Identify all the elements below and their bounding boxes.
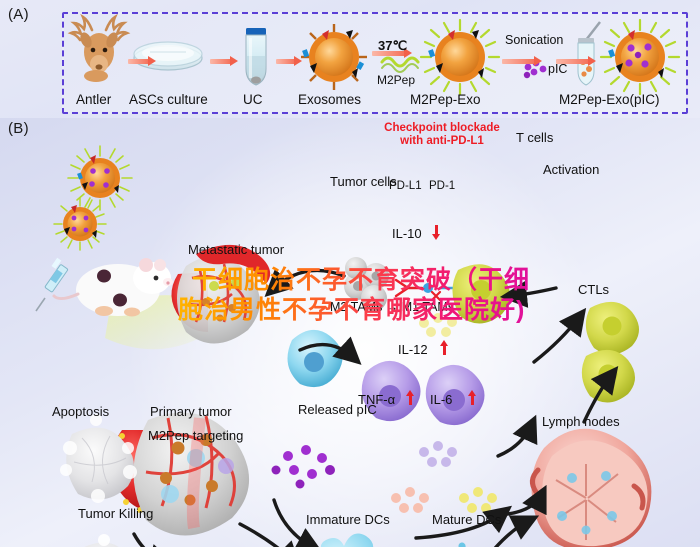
sonication-annotation: Sonication	[505, 33, 563, 47]
step-label-ascs-culture: ASCs culture	[129, 92, 208, 107]
mouse-icon	[54, 258, 173, 317]
apoptosis-tumor-icon	[60, 414, 137, 503]
step-label-uc: UC	[243, 92, 263, 107]
label-il-6: IL-6	[430, 392, 452, 407]
process-arrow-2	[210, 56, 238, 65]
arrow-il6-to-lymph	[508, 494, 542, 514]
watermark-line-2: 胞治男性不孕不育哪家医院好)	[178, 290, 525, 326]
panel-a-letter: (A)	[8, 6, 29, 23]
label-apoptosis: Apoptosis	[52, 404, 109, 419]
panel-a: (A)	[0, 0, 700, 118]
label-primary-tumor: Primary tumor	[150, 404, 232, 419]
process-arrow-1	[128, 56, 156, 65]
ctl-cell-2-icon	[582, 350, 635, 403]
step-label-m2pep-exo: M2Pep-Exo	[410, 92, 481, 107]
m2pep-annotation: M2Pep	[377, 73, 415, 87]
label-tnf-alpha: TNF-α	[358, 392, 395, 407]
label-metastatic-tumor: Metastatic tumor	[188, 242, 284, 257]
step-label-m2pep-exo-pic: M2Pep-Exo(pIC)	[559, 92, 660, 107]
il-12-cytokine-dots	[419, 441, 457, 467]
arrow-tumor-to-dc	[240, 524, 294, 547]
checkpoint-line-2: with anti-PD-L1	[400, 135, 484, 147]
exosome-particle-2	[54, 198, 106, 250]
il-6-up-arrow-icon	[468, 390, 477, 405]
label-immature-dcs: Immature DCs	[306, 512, 390, 527]
syringe-icon	[36, 258, 68, 311]
label-activation: Activation	[543, 162, 599, 177]
label-mature-dcs: Mature DCs	[432, 512, 501, 527]
label-il-10: IL-10	[392, 226, 422, 241]
exosome-particle-1	[68, 146, 132, 210]
step-label-antler: Antler	[76, 92, 111, 107]
label-m2pep-targeting: M2Pep targeting	[148, 428, 243, 443]
label-tumor-cells: Tumor cells	[330, 174, 397, 189]
il-6-cytokine-dots	[459, 487, 497, 513]
scientific-figure: (A)	[0, 0, 700, 547]
process-arrow-3	[276, 56, 302, 65]
label-tumor-killing: Tumor Killing	[78, 506, 153, 521]
tnf-alpha-cytokine-dots	[391, 487, 429, 513]
m2-tam-icon	[288, 330, 343, 387]
immature-dc-icon	[303, 534, 392, 547]
panel-b: (B)	[0, 118, 700, 547]
tnf-alpha-up-arrow-icon	[406, 390, 415, 405]
arrow-m2-to-m1	[300, 345, 354, 358]
arrow-il12-to-lymph	[498, 424, 532, 456]
checkpoint-line-1: Checkpoint blockade	[384, 122, 500, 134]
il-12-up-arrow-icon	[440, 340, 449, 355]
ctl-cell-1-icon	[586, 302, 639, 355]
label-t-cells: T cells	[516, 130, 553, 145]
step-label-exosomes: Exosomes	[298, 92, 361, 107]
label-ctls: CTLs	[578, 282, 609, 297]
tumor-killing-icon	[70, 534, 139, 547]
lymph-node-icon	[532, 429, 652, 547]
il-10-down-arrow-icon	[432, 225, 441, 240]
process-arrow-5	[502, 56, 542, 65]
released-pic-dots	[272, 445, 336, 489]
arrow-apoptosis-to-killing	[134, 534, 166, 547]
label-pd-1: PD-1	[429, 180, 455, 192]
arrow-lymph-to-ctl-1	[534, 316, 580, 362]
pic-annotation: pIC	[548, 62, 567, 76]
label-lymph-nodes: Lymph nodes	[542, 414, 620, 429]
checkpoint-blockade-note: Checkpoint blockade with anti-PD-L1	[372, 122, 512, 148]
panel-b-letter: (B)	[8, 120, 29, 137]
label-il-12: IL-12	[398, 342, 428, 357]
temperature-annotation: 37℃	[378, 38, 407, 54]
